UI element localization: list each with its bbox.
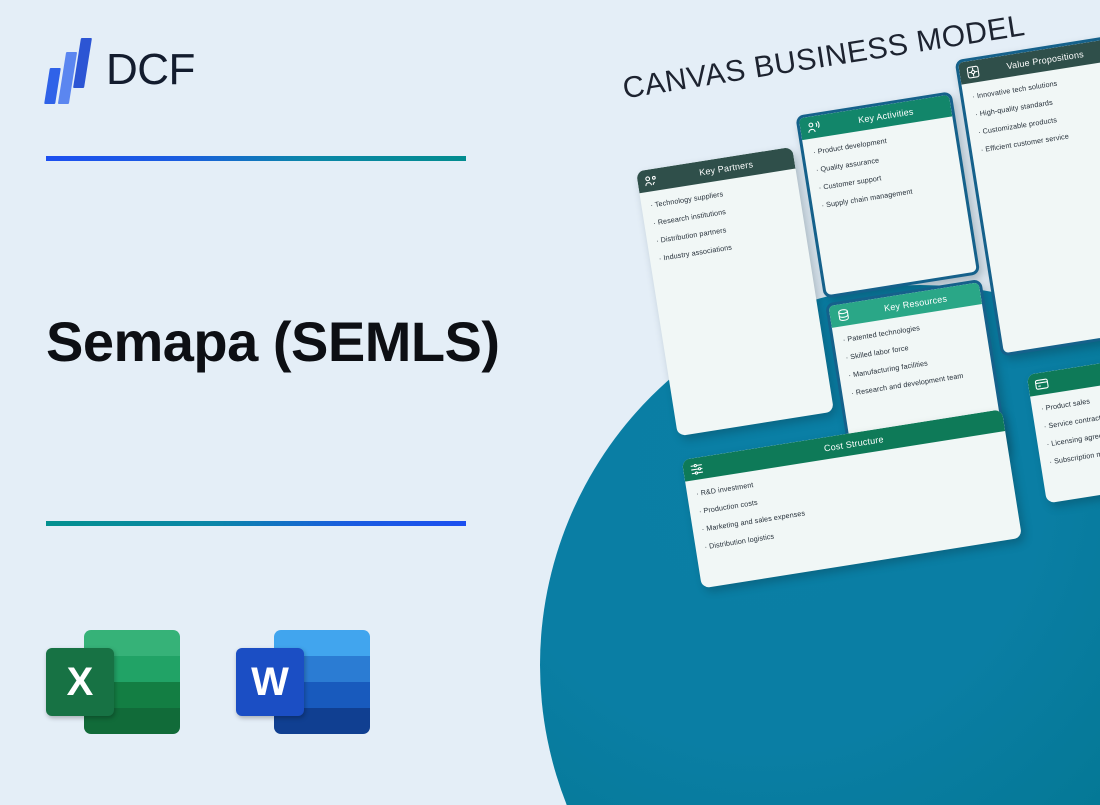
sliders-icon	[688, 460, 705, 477]
logo-bar-right	[73, 38, 92, 88]
page-title: Semapa (SEMLS)	[46, 310, 500, 374]
excel-letter: X	[46, 648, 114, 716]
brand-name: DCF	[106, 48, 195, 92]
excel-icon[interactable]: X	[46, 630, 180, 734]
database-icon	[835, 306, 852, 323]
credit-card-icon	[1033, 375, 1050, 392]
dcf-bars-logo-icon	[46, 36, 92, 104]
divider-bottom	[46, 521, 466, 526]
canvas-card-cost-structure[interactable]: Cost Structure R&D investment Production…	[682, 409, 1022, 588]
word-icon[interactable]: W	[236, 630, 370, 734]
divider-top	[46, 156, 466, 161]
file-format-icons: X W	[46, 630, 370, 734]
canvas-card-revenue-streams[interactable]: Revenue Streams Product sales Service co…	[1027, 328, 1100, 504]
canvas-card-key-activities[interactable]: Key Activities Product development Quali…	[795, 91, 980, 298]
business-model-canvas-artwork: CANVAS BUSINESS MODEL Key Partners Techn…	[578, 0, 1100, 644]
word-letter: W	[236, 648, 304, 716]
megaphone-person-icon	[805, 119, 822, 136]
card-items: Technology suppliers Research institutio…	[639, 169, 834, 437]
card-items: Product development Quality assurance Cu…	[802, 116, 977, 295]
brand-logo[interactable]: DCF	[46, 36, 195, 104]
gift-package-icon	[964, 63, 981, 80]
canvas-card-key-partners[interactable]: Key Partners Technology suppliers Resear…	[636, 147, 834, 436]
partners-network-icon	[642, 172, 659, 189]
page-root: DCF Semapa (SEMLS) X W CANVAS BUSINESS M…	[0, 0, 1100, 805]
